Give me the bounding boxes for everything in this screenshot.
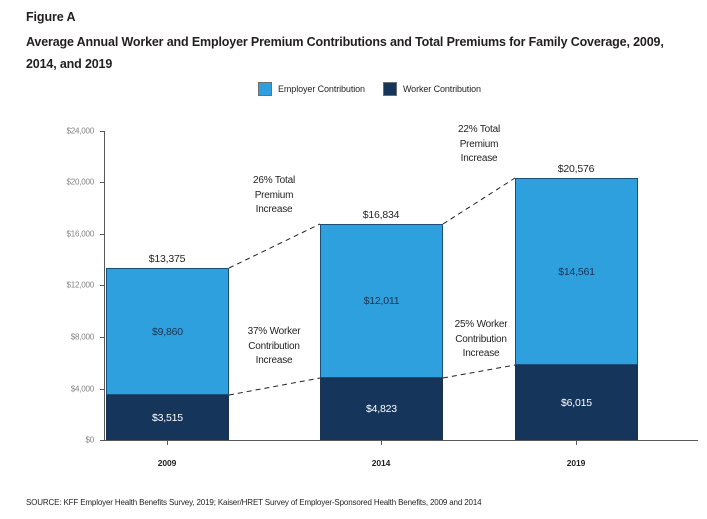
annotation-line: Increase [455,347,508,362]
y-tick-label-0: $0 [42,436,94,445]
bar-segment-worker-2014: $4,823 [320,378,443,440]
annotation-total-increase-2014-2019: 22% Total Premium Increase [458,123,500,167]
y-tick-mark-24000 [100,131,104,132]
y-tick-mark-4000 [100,389,104,390]
x-tick-label-2019: 2019 [567,458,586,468]
y-tick-label-24000: $24,000 [42,127,94,136]
annotation-line: 25% Worker [455,318,508,333]
bar-segment-employer-2014: $12,011 [320,224,443,378]
y-tick-label-12000: $12,000 [42,281,94,290]
bar-value-worker-2014: $4,823 [366,403,397,415]
bar-segment-employer-2019: $14,561 [515,178,638,365]
bar-value-employer-2009: $9,860 [152,326,183,338]
bar-total-label-2014: $16,834 [363,209,400,221]
annotation-line: 37% Worker [248,325,301,340]
y-axis-line [104,131,105,441]
annotation-line: Premium [458,138,500,153]
annotation-worker-increase-2014-2019: 25% Worker Contribution Increase [455,318,508,362]
bar-total-label-2019: $20,576 [558,163,595,175]
bar-value-worker-2019: $6,015 [561,397,592,409]
y-tick-mark-8000 [100,337,104,338]
annotation-total-increase-2009-2014: 26% Total Premium Increase [253,174,295,218]
bar-segment-employer-2009: $9,860 [106,268,229,395]
y-tick-label-16000: $16,000 [42,230,94,239]
annotation-line: Contribution [455,333,508,348]
y-tick-mark-16000 [100,234,104,235]
x-tick-label-2014: 2014 [372,458,391,468]
y-tick-label-20000: $20,000 [42,178,94,187]
y-tick-mark-0 [100,440,104,441]
bar-segment-worker-2009: $3,515 [106,395,229,440]
y-tick-mark-12000 [100,285,104,286]
x-tick-mark-2009 [167,441,168,445]
x-tick-mark-2019 [576,441,577,445]
bar-segment-worker-2019: $6,015 [515,365,638,440]
y-tick-mark-20000 [100,182,104,183]
y-tick-label-8000: $8,000 [42,333,94,342]
annotation-line: Increase [458,152,500,167]
bar-value-worker-2009: $3,515 [152,412,183,424]
annotation-worker-increase-2009-2014: 37% Worker Contribution Increase [248,325,301,369]
chart-plot-area: $24,000 $20,000 $16,000 $12,000 $8,000 $… [0,0,707,519]
annotation-line: Increase [248,354,301,369]
x-tick-label-2009: 2009 [158,458,177,468]
annotation-line: Contribution [248,340,301,355]
annotation-line: Premium [253,189,295,204]
x-axis-line [104,440,698,441]
annotation-line: 26% Total [253,174,295,189]
bar-total-label-2009: $13,375 [149,253,186,265]
annotation-line: 22% Total [458,123,500,138]
bar-value-employer-2014: $12,011 [364,295,400,307]
annotation-line: Increase [253,203,295,218]
bar-value-employer-2019: $14,561 [558,266,595,278]
x-tick-mark-2014 [381,441,382,445]
y-tick-label-4000: $4,000 [42,385,94,394]
source-note: SOURCE: KFF Employer Health Benefits Sur… [26,498,481,507]
